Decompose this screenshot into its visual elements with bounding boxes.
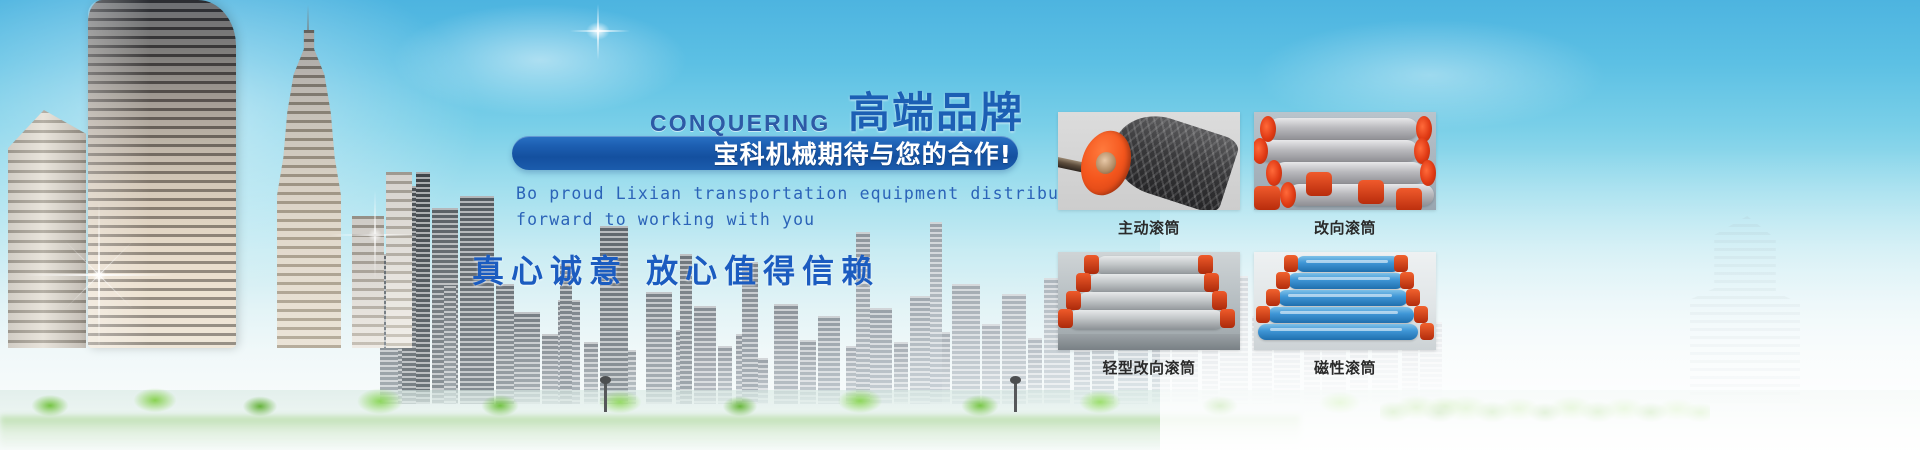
english-subtitle-line-2: forward to working with you xyxy=(516,210,815,229)
blue-ribbon-bar: 宝科机械期待与您的合作! xyxy=(512,136,1018,170)
product-caption: 改向滚筒 xyxy=(1254,217,1436,238)
bend-pulley-photo[interactable] xyxy=(1254,112,1436,210)
building-spire-tower xyxy=(277,30,341,348)
brand-chinese-heading: 高端品牌 xyxy=(848,79,1024,140)
ribbon-slogan: 宝科机械期待与您的合作! xyxy=(714,135,1012,171)
product-cell-bend-pulley[interactable]: 改向滚筒 xyxy=(1254,112,1436,238)
building-main-tower xyxy=(88,0,236,348)
street-lamp-2 xyxy=(1014,382,1017,412)
product-image-grid: 主动滚筒 改向滚筒 xyxy=(1058,112,1436,378)
building-right-2 xyxy=(386,172,412,348)
product-cell-drive-pulley[interactable]: 主动滚筒 xyxy=(1058,112,1240,238)
light-bend-pulley-photo[interactable] xyxy=(1058,252,1240,350)
grass-blur xyxy=(0,416,1300,450)
green-hedge-far-right xyxy=(1380,394,1710,424)
sun-flare-vertical xyxy=(597,4,599,60)
left-cityscape xyxy=(0,0,420,400)
building-right-1 xyxy=(352,216,384,348)
green-hedge xyxy=(0,384,1490,420)
building-left-slab xyxy=(8,110,86,348)
promo-banner: CONQUERING 高端品牌 宝科机械期待与您的合作! Bo proud Li… xyxy=(0,0,1920,450)
product-caption: 主动滚筒 xyxy=(1058,217,1240,238)
street-lamp-1 xyxy=(604,382,607,412)
magnetic-pulley-photo[interactable] xyxy=(1254,252,1436,350)
drive-pulley-photo[interactable] xyxy=(1058,112,1240,210)
product-caption: 磁性滚筒 xyxy=(1254,357,1436,378)
product-caption: 轻型改向滚筒 xyxy=(1058,357,1240,378)
headline-english: CONQUERING xyxy=(650,110,830,137)
product-cell-magnetic-pulley[interactable]: 磁性滚筒 xyxy=(1254,252,1436,378)
sun-flare-horizontal xyxy=(570,30,630,32)
chinese-slogan: 真心诚意 放心值得信赖 xyxy=(472,246,880,292)
product-cell-light-bend-pulley[interactable]: 轻型改向滚筒 xyxy=(1058,252,1240,378)
